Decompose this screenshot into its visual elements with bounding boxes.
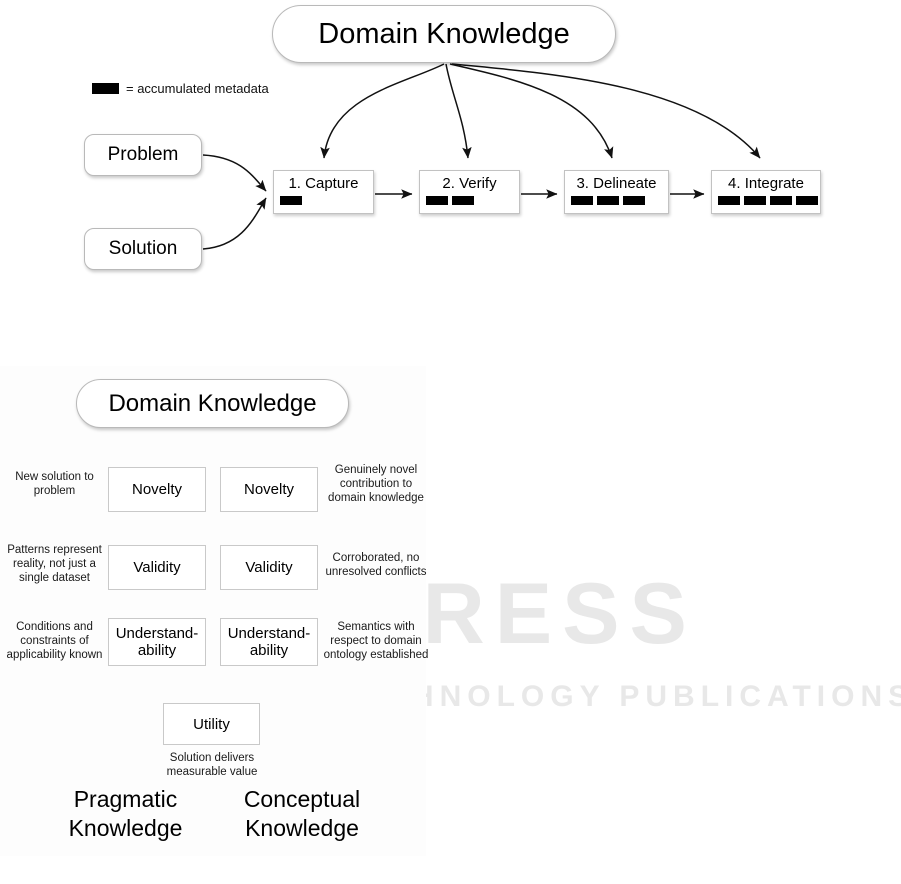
metadata-bar-icon — [597, 196, 619, 205]
step-label: 1. Capture — [288, 175, 358, 193]
process-step-capture: 1. Capture — [273, 170, 374, 214]
metadata-bar-icon — [770, 196, 792, 205]
lower-diagram-panel — [0, 366, 426, 856]
annotation-validity-right: Corroborated, no unresolved conflicts — [322, 551, 430, 579]
step-label: 2. Verify — [442, 175, 496, 193]
metadata-bar-icon — [623, 196, 645, 205]
diagram-canvas: SCITEPRESS SCIENCE AND TECHNOLOGY PUBLIC… — [0, 0, 901, 884]
quality-node-utility: Utility — [163, 703, 260, 745]
legend: = accumulated metadata — [92, 81, 269, 96]
annotation-novelty-left: New solution to problem — [2, 470, 107, 498]
metadata-bar-icon — [718, 196, 740, 205]
annotation-understandability-left: Conditions and constraints of applicabil… — [2, 620, 107, 662]
domain-knowledge-node-bottom: Domain Knowledge — [76, 379, 349, 428]
metadata-bars — [426, 196, 474, 205]
quality-node-understandability-right: Understand-ability — [220, 618, 318, 666]
metadata-bar-icon — [280, 196, 302, 205]
metadata-bars — [571, 196, 645, 205]
annotation-utility: Solution delivers measurable value — [152, 751, 272, 779]
caption-conceptual-knowledge: Conceptual Knowledge — [232, 785, 372, 843]
process-step-integrate: 4. Integrate — [711, 170, 821, 214]
metadata-bar-icon — [426, 196, 448, 205]
quality-node-novelty-right: Novelty — [220, 467, 318, 512]
quality-node-validity-right: Validity — [220, 545, 318, 590]
quality-node-understandability-left: Understand-ability — [108, 618, 206, 666]
annotation-understandability-right: Semantics with respect to domain ontolog… — [322, 620, 430, 662]
metadata-bar-icon — [744, 196, 766, 205]
process-step-delineate: 3. Delineate — [564, 170, 669, 214]
quality-node-novelty-left: Novelty — [108, 467, 206, 512]
step-label: 4. Integrate — [728, 175, 804, 193]
domain-knowledge-node-top: Domain Knowledge — [272, 5, 616, 63]
metadata-bar-icon — [571, 196, 593, 205]
metadata-bars — [280, 196, 302, 205]
input-node-problem: Problem — [84, 134, 202, 176]
metadata-bars — [718, 196, 818, 205]
input-node-solution: Solution — [84, 228, 202, 270]
legend-label: = accumulated metadata — [126, 81, 269, 96]
metadata-bar-icon — [796, 196, 818, 205]
caption-pragmatic-knowledge: Pragmatic Knowledge — [58, 785, 193, 843]
annotation-validity-left: Patterns represent reality, not just a s… — [2, 543, 107, 585]
process-step-verify: 2. Verify — [419, 170, 520, 214]
quality-node-validity-left: Validity — [108, 545, 206, 590]
black-bar-icon — [92, 83, 119, 94]
annotation-novelty-right: Genuinely novel contribution to domain k… — [322, 463, 430, 505]
step-label: 3. Delineate — [576, 175, 656, 193]
metadata-bar-icon — [452, 196, 474, 205]
